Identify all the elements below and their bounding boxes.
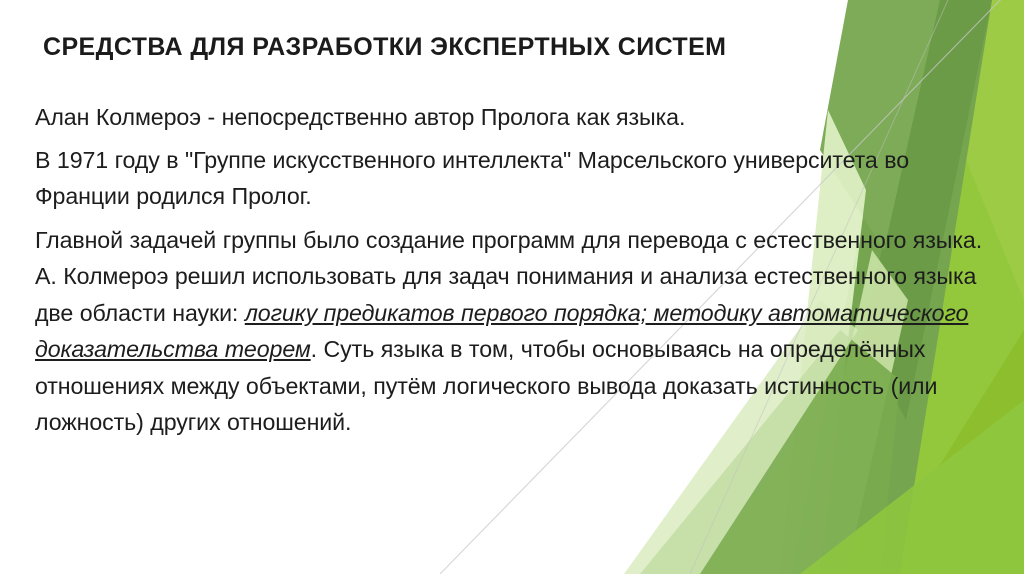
paragraph-1: Алан Колмероэ - непосредственно автор Пр… [35, 99, 983, 136]
presentation-slide: СРЕДСТВА ДЛЯ РАЗРАБОТКИ ЭКСПЕРТНЫХ СИСТЕ… [0, 0, 1024, 574]
paragraph-2: В 1971 году в "Группе искусственного инт… [35, 142, 983, 215]
slide-body: Алан Колмероэ - непосредственно автор Пр… [35, 99, 983, 441]
slide-title: СРЕДСТВА ДЛЯ РАЗРАБОТКИ ЭКСПЕРТНЫХ СИСТЕ… [43, 34, 923, 62]
paragraph-3: Главной задачей группы было создание про… [35, 222, 983, 441]
